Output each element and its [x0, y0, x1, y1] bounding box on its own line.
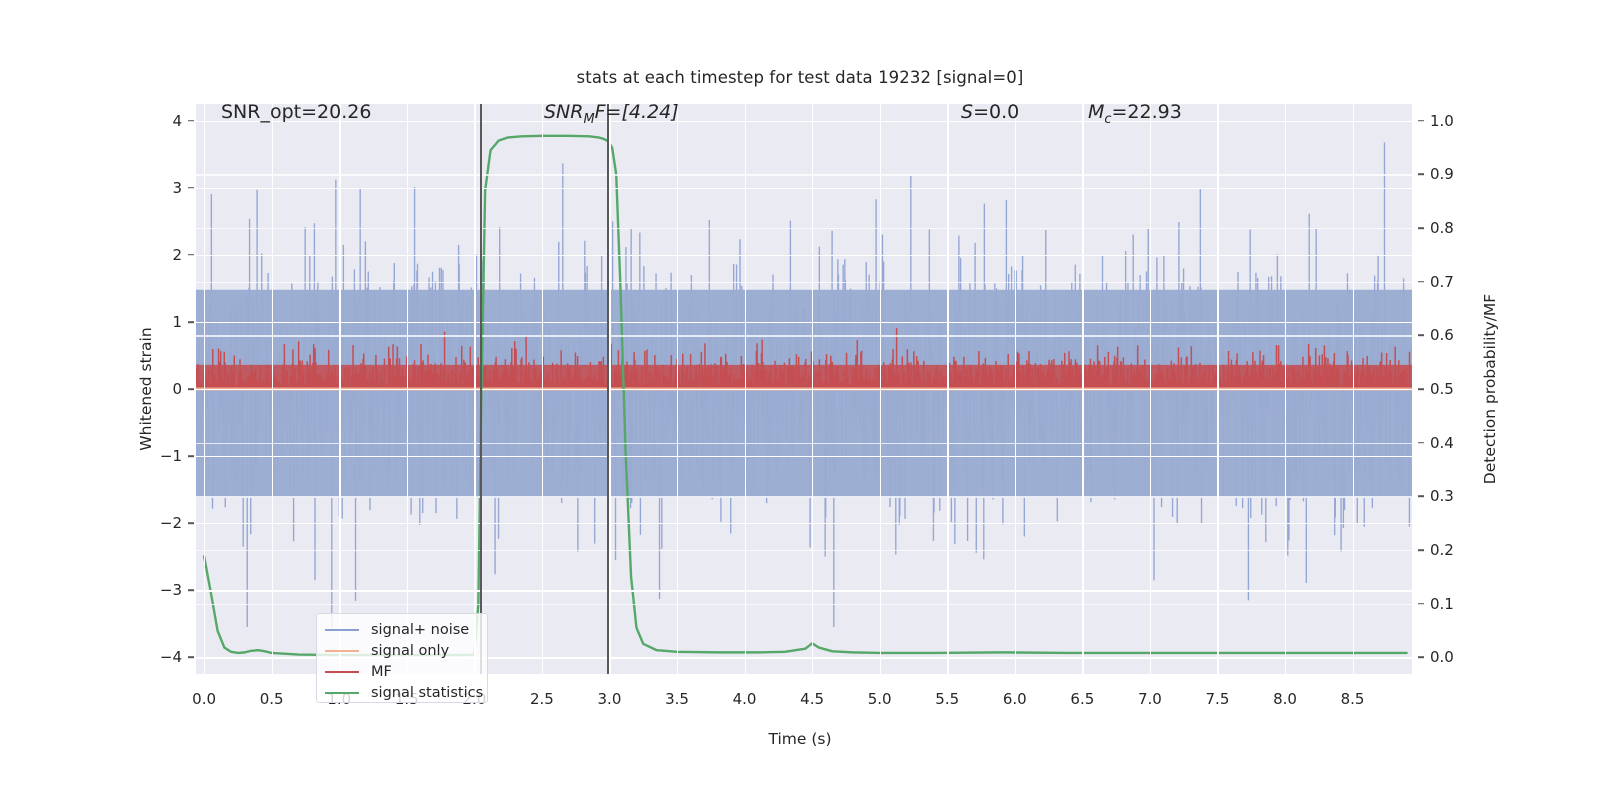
y-axis-tick-left	[188, 321, 194, 323]
y-axis-tick-label-right: 0.5	[1430, 380, 1454, 398]
x-axis-tick-label: 5.0	[868, 690, 892, 708]
annotation-snr-opt-text: SNR_opt=20.26	[221, 101, 371, 123]
x-axis-tick-label: 7.5	[1206, 690, 1230, 708]
y-axis-label-right: Detection probability/MF	[1481, 189, 1499, 589]
y-axis-tick-right	[1418, 388, 1424, 390]
gridline-horizontal-secondary	[196, 550, 1412, 551]
y-axis-tick-label-right: 0.8	[1430, 219, 1454, 237]
annotation-snr-mf-prefix: SNR	[544, 101, 583, 123]
annotation-s: S=0.0	[961, 101, 1019, 123]
y-axis-tick-left	[188, 656, 194, 658]
y-axis-tick-label-right: 0.1	[1430, 595, 1454, 613]
legend-item-label: signal statistics	[371, 685, 483, 701]
vertical-marker-line-2	[607, 104, 609, 674]
y-axis-tick-label-right: 0.2	[1430, 541, 1454, 559]
y-axis-tick-label-left: −4	[0, 648, 182, 666]
annotation-snr-mf: SNRMF=[4.24]	[544, 101, 679, 127]
y-axis-tick-label-right: 0.7	[1430, 273, 1454, 291]
annotation-mc-subscript: c	[1104, 112, 1111, 127]
y-axis-tick-label-right: 0.9	[1430, 165, 1454, 183]
y-axis-tick-label-right: 0.0	[1430, 648, 1454, 666]
legend-swatch-icon	[325, 671, 359, 673]
gridline-horizontal	[196, 523, 1412, 524]
y-axis-tick-label-left: 3	[0, 179, 182, 197]
legend-item-label: MF	[371, 664, 392, 680]
y-axis-tick-right	[1418, 120, 1424, 122]
gridline-horizontal-secondary	[196, 228, 1412, 229]
y-axis-tick-left	[188, 455, 194, 457]
x-axis-tick-label: 4.0	[733, 690, 757, 708]
legend-swatch-icon	[325, 650, 359, 652]
annotation-s-value: =0.0	[973, 101, 1019, 123]
y-axis-tick-right	[1418, 227, 1424, 229]
y-axis-tick-left	[188, 589, 194, 591]
y-axis-tick-label-right: 0.4	[1430, 434, 1454, 452]
y-axis-tick-right	[1418, 442, 1424, 444]
gridline-horizontal-secondary	[196, 121, 1412, 122]
y-axis-tick-right	[1418, 174, 1424, 176]
y-axis-tick-left	[188, 522, 194, 524]
gridline-horizontal	[196, 456, 1412, 457]
plot-area[interactable]	[196, 104, 1412, 674]
figure-canvas: stats at each timestep for test data 192…	[0, 0, 1600, 800]
annotation-snr-mf-suffix: F=[4.24]	[595, 101, 679, 123]
y-axis-tick-left	[188, 187, 194, 189]
gridline-horizontal	[196, 255, 1412, 256]
y-axis-tick-right	[1418, 495, 1424, 497]
y-axis-tick-label-right: 1.0	[1430, 112, 1454, 130]
annotation-mc: Mc=22.93	[1088, 101, 1182, 127]
y-axis-tick-left	[188, 120, 194, 122]
gridline-horizontal	[196, 322, 1412, 323]
y-axis-label-left: Whitened strain	[137, 229, 155, 549]
y-axis-tick-label-right: 0.3	[1430, 487, 1454, 505]
y-axis-tick-label-left: −3	[0, 581, 182, 599]
x-axis-label: Time (s)	[0, 730, 1600, 748]
x-axis-tick-label: 3.5	[665, 690, 689, 708]
legend-swatch-icon	[325, 692, 359, 694]
legend-item-0[interactable]: signal+ noise	[325, 619, 479, 640]
x-axis-tick-label: 6.5	[1070, 690, 1094, 708]
legend-item-3[interactable]: signal statistics	[325, 682, 479, 703]
x-axis-tick-label: 5.5	[935, 690, 959, 708]
x-axis-tick-label: 4.5	[800, 690, 824, 708]
annotation-mc-symbol: M	[1088, 101, 1104, 123]
gridline-horizontal-secondary	[196, 496, 1412, 497]
gridline-horizontal-secondary	[196, 282, 1412, 283]
legend-swatch-icon	[325, 629, 359, 631]
legend-item-label: signal+ noise	[371, 622, 469, 638]
y-axis-tick-right	[1418, 549, 1424, 551]
annotation-snr-mf-subscript: M	[583, 112, 594, 127]
annotation-s-symbol: S	[961, 101, 973, 123]
annotation-snr-opt: SNR_opt=20.26	[221, 101, 371, 123]
x-axis-tick-label: 2.5	[530, 690, 554, 708]
gridline-horizontal-secondary	[196, 604, 1412, 605]
legend-item-2[interactable]: MF	[325, 661, 479, 682]
x-axis-tick-label: 8.5	[1341, 690, 1365, 708]
x-axis-tick-label: 6.0	[1003, 690, 1027, 708]
y-axis-tick-left	[188, 254, 194, 256]
y-axis-tick-right	[1418, 656, 1424, 658]
y-axis-tick-right	[1418, 281, 1424, 283]
gridline-horizontal-secondary	[196, 389, 1412, 390]
y-axis-tick-left	[188, 388, 194, 390]
vertical-marker-line-1	[480, 104, 482, 674]
x-axis-tick-label: 7.0	[1138, 690, 1162, 708]
y-axis-tick-right	[1418, 335, 1424, 337]
gridline-horizontal-secondary	[196, 443, 1412, 444]
gridline-horizontal-secondary	[196, 335, 1412, 336]
gridline-horizontal	[196, 188, 1412, 189]
legend-item-1[interactable]: signal only	[325, 640, 479, 661]
gridline-horizontal-secondary	[196, 174, 1412, 175]
page-title: stats at each timestep for test data 192…	[0, 68, 1600, 87]
y-axis-tick-right	[1418, 603, 1424, 605]
legend-item-label: signal only	[371, 643, 449, 659]
x-axis-tick-label: 8.0	[1273, 690, 1297, 708]
legend[interactable]: signal+ noisesignal onlyMFsignal statist…	[316, 613, 488, 703]
x-axis-tick-label: 0.0	[192, 690, 216, 708]
x-axis-tick-label: 3.0	[598, 690, 622, 708]
x-axis-tick-label: 0.5	[260, 690, 284, 708]
y-axis-tick-label-left: 4	[0, 112, 182, 130]
annotation-mc-value: =22.93	[1112, 101, 1182, 123]
gridline-horizontal	[196, 590, 1412, 591]
y-axis-tick-label-right: 0.6	[1430, 326, 1454, 344]
